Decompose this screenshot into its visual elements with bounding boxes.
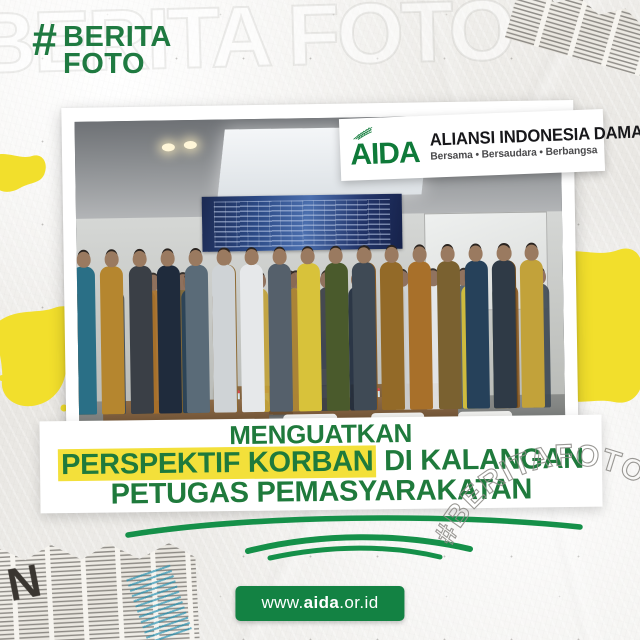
title-line-1: MENGUATKAN [229,420,412,448]
person [240,264,265,412]
title-block: MENGUATKAN PERSPEKTIF KORBAN DI KALANGAN… [39,411,602,518]
people-group [76,208,565,415]
title-line-2-rest: DI KALANGAN [376,443,584,478]
person-head [301,248,315,264]
person-head [384,247,398,263]
person [380,262,405,410]
person-head [441,246,455,262]
person [492,260,517,408]
url-prefix: www. [261,593,303,612]
person [74,267,97,415]
person-head [329,248,343,264]
person-head [524,245,538,261]
person-head [216,250,230,266]
person-head [104,251,118,267]
person [212,265,237,413]
person-head [189,250,203,266]
berita-foto-logo: # BERITA FOTO [32,24,172,77]
brand-line-1: BERITA [63,24,172,51]
person-head [76,252,90,268]
person-head [244,249,258,265]
person-head [356,248,370,264]
hash-icon: # [32,22,56,58]
person [352,262,377,410]
aida-mark: AIDA [349,124,425,173]
person-head [469,246,483,262]
person [268,264,293,412]
url-brand: aida [304,593,340,612]
person [408,262,433,410]
brand-line-2: FOTO [63,51,172,78]
person [325,263,350,411]
aida-logo-card: AIDA ALIANSI INDONESIA DAMAI Bersama • B… [339,109,605,181]
person [185,265,210,413]
person [156,266,181,414]
url-suffix: .or.id [339,593,378,612]
person-head [496,245,510,261]
person [520,260,545,408]
person-head [272,249,286,265]
person [100,266,125,414]
person [128,266,153,414]
title-line-3: PETUGAS PEMASYARAKATAN [110,475,532,509]
person [296,263,321,411]
poster-canvas: BERITA FOTO N # BERITA FOTO [0,0,640,640]
person [465,261,490,409]
person-head [133,251,147,267]
person [436,261,461,409]
person-head [412,247,426,263]
website-url-pill[interactable]: www.aida.or.id [235,586,404,621]
person-head [161,251,175,267]
aida-wordmark: AIDA [350,138,420,171]
